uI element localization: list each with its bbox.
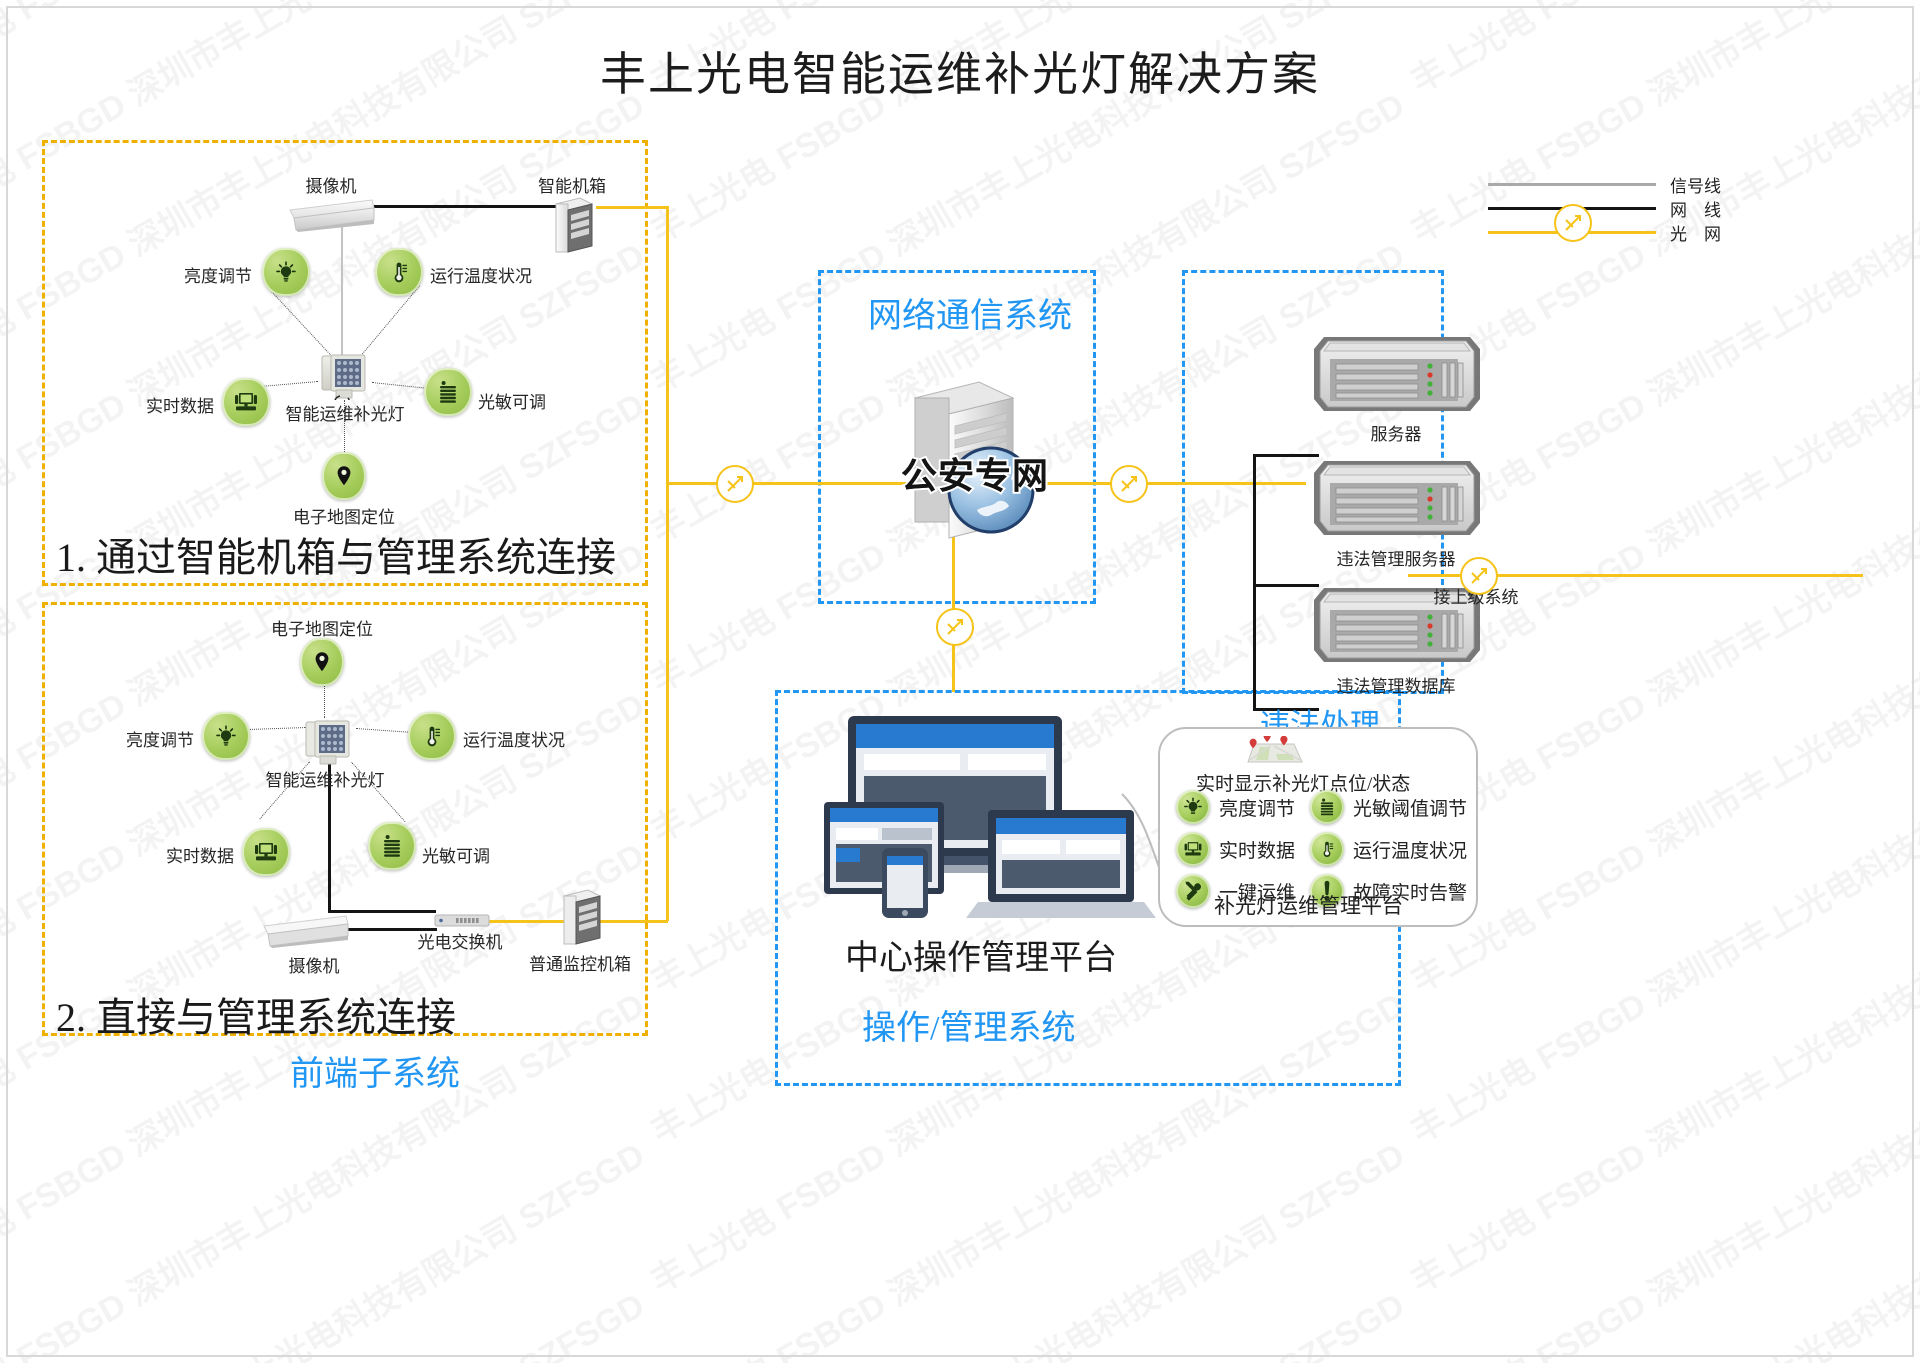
legend-row-signal: 信号线 xyxy=(1488,172,1721,197)
scheme1-photosensor-icon xyxy=(424,368,472,416)
violation-server-3-label: 违法管理数据库 xyxy=(1337,672,1456,697)
thermometer-icon xyxy=(1310,832,1344,866)
scheme2-photosensor-label: 光敏可调 xyxy=(422,842,490,867)
scheme1-step-label: 1. 通过智能机箱与管理系统连接 xyxy=(56,525,616,583)
violation-bus-to-server1 xyxy=(1253,454,1319,457)
scheme2-light-label: 智能运维补光灯 xyxy=(266,766,385,791)
page-title: 丰上光电智能运维补光灯解决方案 xyxy=(0,38,1920,104)
legend-row-fiber: 光 网 xyxy=(1488,220,1721,245)
violation-server-1-label: 服务器 xyxy=(1371,420,1422,445)
network-system-title: 网络通信系统 xyxy=(868,288,1072,337)
fiber-icon-legend xyxy=(1554,204,1592,242)
legend-label-signal: 信号线 xyxy=(1670,172,1721,197)
scheme2-switch-to-cabinet xyxy=(488,920,564,923)
scheme1-thermometer-icon xyxy=(375,248,423,296)
violation-server-1-icon xyxy=(1314,333,1480,413)
scheme1-bulb-label: 亮度调节 xyxy=(184,262,252,287)
scheme2-bulb-label: 亮度调节 xyxy=(126,726,194,751)
scheme2-step-label: 2. 直接与管理系统连接 xyxy=(56,985,456,1043)
platform-feature-realtime-data: 实时数据 xyxy=(1176,832,1295,866)
scheme2-switch-label: 光电交换机 xyxy=(418,928,503,953)
platform-feature-photo-threshold-label: 光敏阈值调节 xyxy=(1353,794,1467,821)
platform-map-icon xyxy=(1240,736,1308,771)
operation-center-label: 中心操作管理平台 xyxy=(845,930,1117,979)
scheme1-light-label: 智能运维补光灯 xyxy=(286,400,405,425)
scheme2-cabinet-icon xyxy=(560,888,604,946)
scheme1-bulb-icon xyxy=(262,248,310,296)
scheme1-camera-cabinet-link xyxy=(360,205,560,208)
fiber-network-to-violation xyxy=(1046,482,1306,485)
scheme2-map-pin-label: 电子地图定位 xyxy=(271,615,373,640)
scheme2-camera-label: 摄像机 xyxy=(289,952,340,977)
scheme2-bulb-icon xyxy=(202,712,250,760)
network-node-label-fill: 公安专网 xyxy=(901,447,1049,499)
scheme2-thermometer-icon xyxy=(408,712,456,760)
scheme1-photosensor-label: 光敏可调 xyxy=(478,388,546,413)
legend: 信号线 网 线 光 网 xyxy=(1488,170,1748,240)
fiber-cabinet1-right xyxy=(596,206,668,209)
scheme1-cabinet-label: 智能机箱 xyxy=(538,172,606,197)
legend-label-fiber: 光 网 xyxy=(1670,220,1721,245)
gray-line-icon xyxy=(1488,183,1656,186)
scheme2-map-pin-icon xyxy=(300,638,344,686)
violation-server-2-label: 违法管理服务器 xyxy=(1337,545,1456,570)
platform-feature-temperature-label: 运行温度状况 xyxy=(1353,836,1467,863)
scheme2-switch-icon xyxy=(434,912,490,928)
scheme2-monitor-label: 实时数据 xyxy=(166,842,234,867)
scheme2-thermometer-label: 运行温度状况 xyxy=(463,726,565,751)
monitor-icon xyxy=(1176,832,1210,866)
scheme2-monitor-icon xyxy=(242,828,290,876)
scheme1-light-icon xyxy=(318,352,372,400)
platform-feature-photo-threshold: 光敏阈值调节 xyxy=(1310,790,1467,824)
photosensor-icon xyxy=(1310,790,1344,824)
violation-bus-to-server2 xyxy=(1253,584,1319,587)
operation-devices-cluster-icon xyxy=(820,710,1160,930)
fiber-icon-uplink xyxy=(1460,557,1498,595)
legend-label-network: 网 线 xyxy=(1670,196,1721,221)
scheme1-cabinet-icon xyxy=(552,196,596,254)
scheme2-photosensor-icon xyxy=(368,822,416,870)
scheme2-cabinet-label: 普通监控机箱 xyxy=(529,950,631,975)
scheme1-camera-label: 摄像机 xyxy=(306,172,357,197)
operation-system-title: 操作/管理系统 xyxy=(862,1000,1075,1049)
violation-bus-vertical xyxy=(1253,454,1256,709)
scheme1-camera-icon xyxy=(288,196,376,234)
scheme2-light-icon xyxy=(302,718,356,766)
fiber-trunk-vertical xyxy=(666,206,669,921)
fiber-icon-network-violation xyxy=(1110,465,1148,503)
fiber-cabinet2-right xyxy=(600,920,668,923)
bulb-icon xyxy=(1176,790,1210,824)
platform-footer-label: 补光灯运维管理平台 xyxy=(1214,890,1403,920)
fiber-icon-network-operation xyxy=(936,608,974,646)
tools-icon xyxy=(1176,874,1210,908)
scheme1-map-pin-icon xyxy=(322,452,366,500)
fiber-trunk-to-network xyxy=(666,482,918,485)
scheme2-camera-icon xyxy=(262,912,352,950)
platform-feature-brightness-label: 亮度调节 xyxy=(1219,794,1295,821)
fiber-icon-trunk-network xyxy=(716,465,754,503)
scheme1-camera-light-signal xyxy=(341,226,343,360)
violation-server-2-icon xyxy=(1314,457,1480,537)
front-end-subsystem-title: 前端子系统 xyxy=(290,1046,460,1095)
platform-feature-temperature: 运行温度状况 xyxy=(1310,832,1467,866)
scheme1-monitor-label: 实时数据 xyxy=(146,392,214,417)
platform-feature-realtime-data-label: 实时数据 xyxy=(1219,836,1295,863)
scheme1-thermometer-label: 运行温度状况 xyxy=(430,262,532,287)
scheme1-monitor-icon xyxy=(222,378,270,426)
legend-row-network: 网 线 xyxy=(1488,196,1721,221)
platform-feature-brightness: 亮度调节 xyxy=(1176,790,1295,824)
